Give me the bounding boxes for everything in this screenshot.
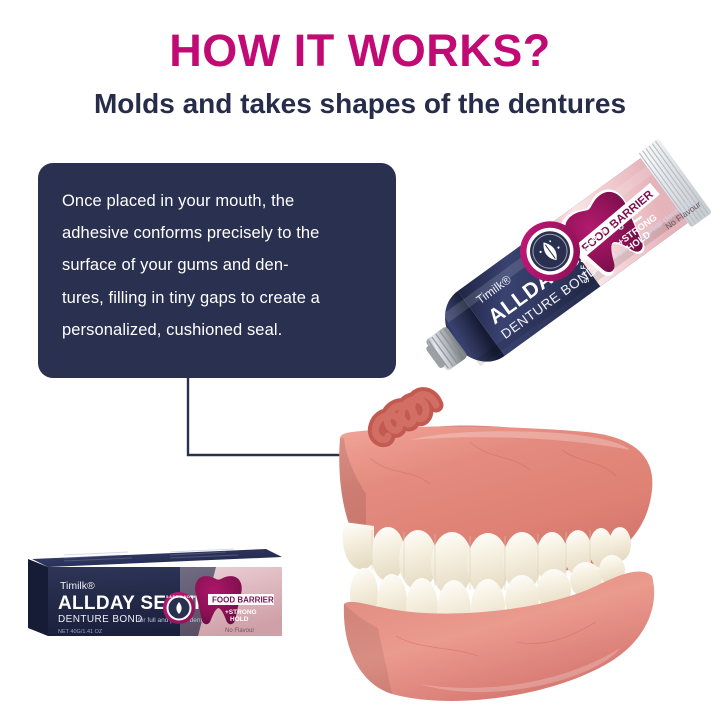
carton-badge-strong: +STRONG [225,609,257,616]
carton-brand: Timilk® [60,580,95,592]
page-title: HOW IT WORKS? [0,28,720,73]
dentures-illustration [300,398,720,720]
poster-canvas: HOW IT WORKS? Molds and takes shapes of … [0,0,720,720]
carton-badge-food-barrier: FOOD BARRIER [212,596,274,605]
carton-net-weight: NET 40G/1.41 OZ [58,629,103,635]
product-carton: Timilk® ALLDAY SECURE DENTURE BOND for f… [20,546,292,641]
carton-flavour: No Flavour [225,628,254,634]
callout-text: Once placed in your mouth, theadhesive c… [62,185,372,346]
product-tube: Timilk® ALLDAY SECURE DENTURE BOND for f… [400,100,720,430]
carton-badge-hold: HOLD [230,616,249,623]
carton-product-subname: DENTURE BOND [58,614,143,625]
callout-box: Once placed in your mouth, theadhesive c… [38,163,396,378]
